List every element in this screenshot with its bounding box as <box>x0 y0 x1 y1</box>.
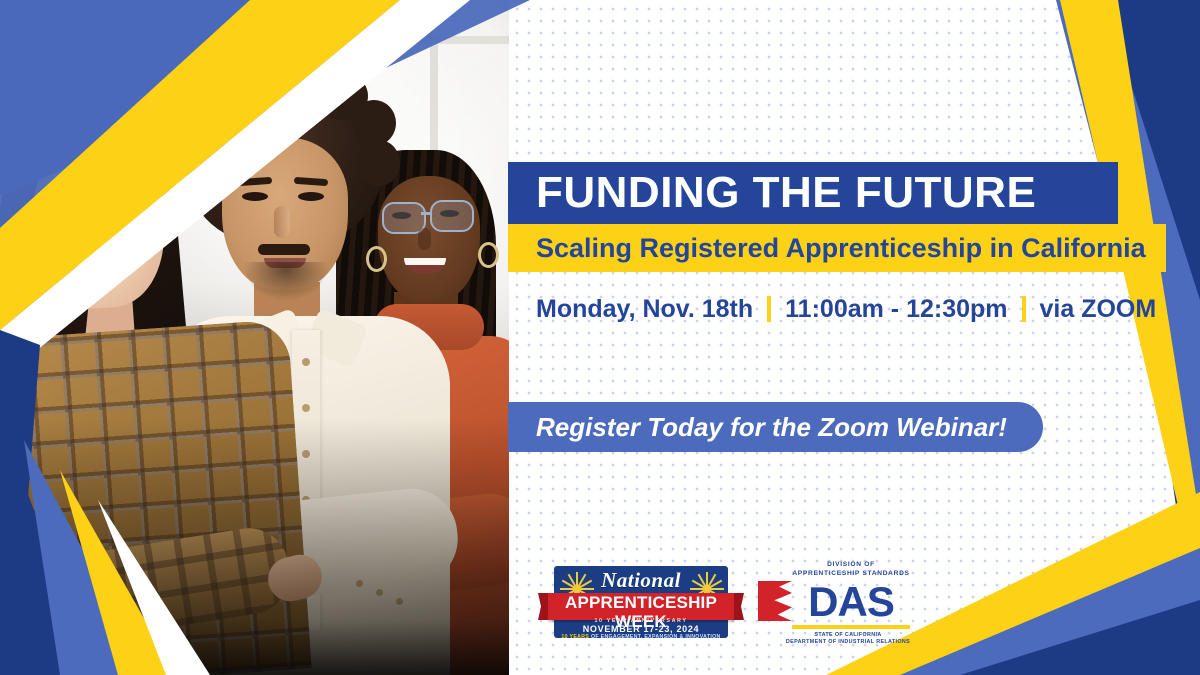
event-time: 11:00am - 12:30pm <box>785 297 1007 322</box>
das-footer-label: STATE OF CALIFORNIA DEPARTMENT OF INDUST… <box>778 632 918 646</box>
apprentices-photo <box>0 0 509 675</box>
naw-tagline-lead: 10 YEARS <box>561 634 589 640</box>
das-logo: DIVISION OF APPRENTICESHIP STANDARDS DAS… <box>768 559 918 645</box>
page-subtitle: Scaling Registered Apprenticeship in Cal… <box>508 235 1146 262</box>
page-title: FUNDING THE FUTURE <box>508 171 1036 215</box>
photo-vignette <box>0 0 509 675</box>
das-line2: APPRENTICESHIP STANDARDS <box>784 570 918 579</box>
meta-divider <box>1022 296 1026 322</box>
das-acronym: DAS <box>784 581 918 623</box>
logo-row: National APPRENTICESHIP WEEK 10 YEAR ANN… <box>508 552 1078 652</box>
naw-ribbon: APPRENTICESHIP WEEK <box>548 593 734 620</box>
das-foot2: DEPARTMENT OF INDUSTRIAL RELATIONS <box>778 639 918 646</box>
das-yellow-rule <box>792 625 910 629</box>
event-date: Monday, Nov. 18th <box>536 297 753 322</box>
subtitle-band: Scaling Registered Apprenticeship in Cal… <box>508 224 1166 272</box>
meta-divider <box>767 296 771 322</box>
naw-script-word: National <box>548 568 734 593</box>
register-cta-label: Register Today for the Zoom Webinar! <box>508 414 1007 440</box>
event-platform: via ZOOM <box>1040 297 1157 322</box>
webinar-flyer: FUNDING THE FUTURE Scaling Registered Ap… <box>0 0 1200 675</box>
das-division-label: DIVISION OF APPRENTICESHIP STANDARDS <box>784 561 918 578</box>
naw-tagline: 10 YEARS OF ENGAGEMENT, EXPANSION & INNO… <box>548 634 734 640</box>
das-foot1: STATE OF CALIFORNIA <box>778 632 918 639</box>
event-meta: Monday, Nov. 18th 11:00am - 12:30pm via … <box>536 296 1156 322</box>
national-apprenticeship-week-logo: National APPRENTICESHIP WEEK 10 YEAR ANN… <box>548 560 734 644</box>
title-band: FUNDING THE FUTURE <box>508 162 1118 224</box>
das-line1: DIVISION OF <box>784 561 918 570</box>
register-cta-button[interactable]: Register Today for the Zoom Webinar! <box>508 402 1043 452</box>
naw-dates: NOVEMBER 17-23, 2024 <box>548 624 734 634</box>
naw-tagline-rest: OF ENGAGEMENT, EXPANSION & INNOVATION <box>589 634 720 640</box>
